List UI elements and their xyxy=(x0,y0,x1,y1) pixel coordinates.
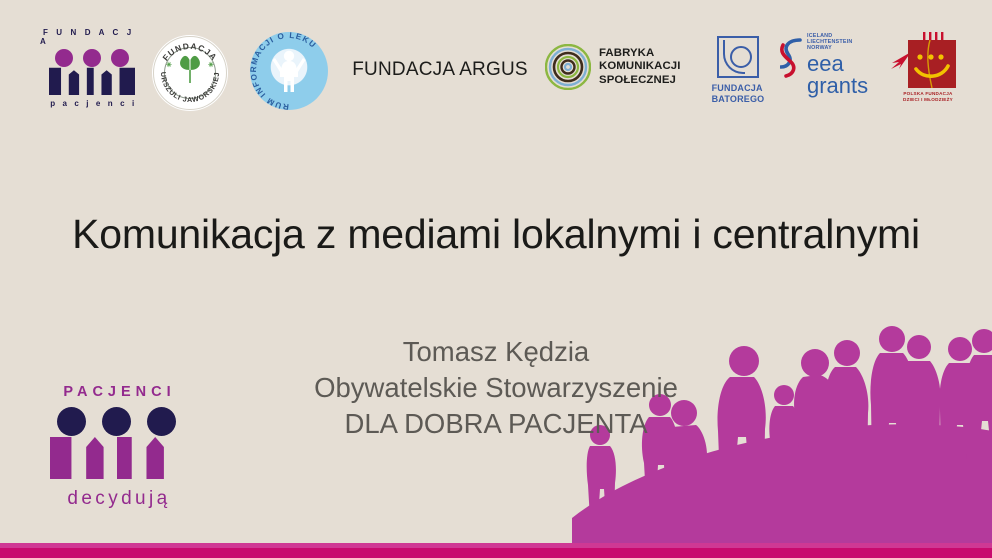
eea-big-line-2: grants xyxy=(807,76,868,96)
subtitle-line-1: Tomasz Kędzia xyxy=(186,334,806,370)
jaworska-seal-text: FUNDACJA URSZULI JAWORSKIEJ ✳ ✳ xyxy=(154,37,226,109)
fabryka-line-3: SPOŁECZNEJ xyxy=(599,74,680,87)
svg-text:CENTRUM INFORMACJI O LEKU: CENTRUM INFORMACJI O LEKU xyxy=(250,32,318,110)
eea-text-block: ICELAND LIECHTENSTEIN NORWAY eea grants xyxy=(807,33,868,96)
ciol-seal-text: CENTRUM INFORMACJI O LEKU xyxy=(250,32,328,110)
jaworska-seal-icon: FUNDACJA URSZULI JAWORSKIEJ ✳ ✳ xyxy=(153,36,227,110)
sponsor-logo-bar: F U N D A C J A p a c j e n c i xyxy=(0,0,992,122)
pacjenci-decyduja-bottom-text: decydują xyxy=(37,488,197,510)
batory-text-block: FUNDACJA BATOREGO xyxy=(712,83,765,104)
subtitle-line-3: DLA DOBRA PACJENTA xyxy=(186,406,806,442)
logo-centrum-informacji-o-leku: CENTRUM INFORMACJI O LEKU xyxy=(250,32,328,110)
logo-fundacja-my-pacjenci: F U N D A C J A p a c j e n c i xyxy=(40,28,144,108)
presentation-slide: F U N D A C J A p a c j e n c i xyxy=(0,0,992,558)
pfdim-line-2: DZIECI I MŁODZIEŻY xyxy=(903,97,953,103)
logo-my-pacjenci-bottom-text: p a c j e n c i xyxy=(47,99,137,108)
logo-fundacja-batorego: FUNDACJA BATOREGO xyxy=(707,36,769,104)
slide-title: Komunikacja z mediami lokalnymi i centra… xyxy=(0,211,992,258)
pacjenci-decyduja-top-text: PACJENCI xyxy=(37,384,197,400)
svg-text:✳: ✳ xyxy=(166,61,172,69)
svg-text:FUNDACJA: FUNDACJA xyxy=(160,41,219,63)
svg-text:URSZULI JAWORSKIEJ: URSZULI JAWORSKIEJ xyxy=(159,72,221,105)
logo-my-pacjenci-top-text: F U N D A C J A xyxy=(40,28,144,46)
fabryka-line-1: FABRYKA xyxy=(599,47,680,60)
slide-subtitle: Tomasz Kędzia Obywatelskie Stowarzyszeni… xyxy=(186,334,806,442)
my-pacjenci-figures-icon xyxy=(49,49,135,95)
subtitle-line-2: Obywatelskie Stowarzyszenie xyxy=(186,370,806,406)
logo-polska-fundacja-dzieci-i-mlodziezy: POLSKA FUNDACJA DZIECI I MŁODZIEŻY xyxy=(878,32,978,102)
svg-text:✳: ✳ xyxy=(208,61,214,69)
fabryka-line-2: KOMUNIKACJI xyxy=(599,60,680,73)
concentric-circles-icon xyxy=(545,44,591,90)
bottom-accent-bar-dark xyxy=(0,548,992,558)
pfdim-smile-icon xyxy=(908,40,956,88)
batory-line-1: FUNDACJA xyxy=(712,83,765,94)
eea-big-line-1: eea xyxy=(807,54,868,74)
logo-pacjenci-decyduja: PACJENCI decydują xyxy=(37,384,197,510)
eea-swoosh-icon xyxy=(780,37,804,79)
logo-fundacja-urszuli-jaworskiej: FUNDACJA URSZULI JAWORSKIEJ ✳ ✳ xyxy=(153,36,227,110)
argus-text-right: ARGUS xyxy=(459,59,528,81)
fabryka-text-block: FABRYKA KOMUNIKACJI SPOŁECZNEJ xyxy=(599,47,680,87)
pfdim-line-1: POLSKA FUNDACJA xyxy=(903,91,953,97)
pacjenci-decyduja-figures-icon xyxy=(50,407,184,479)
pfdim-text-block: POLSKA FUNDACJA DZIECI I MŁODZIEŻY xyxy=(903,91,953,102)
batory-line-2: BATOREGO xyxy=(712,94,765,105)
logo-fundacja-argus: FUNDACJA ARGUS xyxy=(355,57,525,83)
logo-eea-grants: ICELAND LIECHTENSTEIN NORWAY eea grants xyxy=(780,33,868,96)
pfdim-face-icon xyxy=(890,32,966,88)
ciol-seal-icon: CENTRUM INFORMACJI O LEKU xyxy=(250,32,328,110)
logo-fabryka-komunikacji-spolecznej: FABRYKA KOMUNIKACJI SPOŁECZNEJ xyxy=(545,44,680,90)
batory-square-icon xyxy=(717,36,759,78)
argus-text-left: FUNDACJA xyxy=(352,59,455,81)
